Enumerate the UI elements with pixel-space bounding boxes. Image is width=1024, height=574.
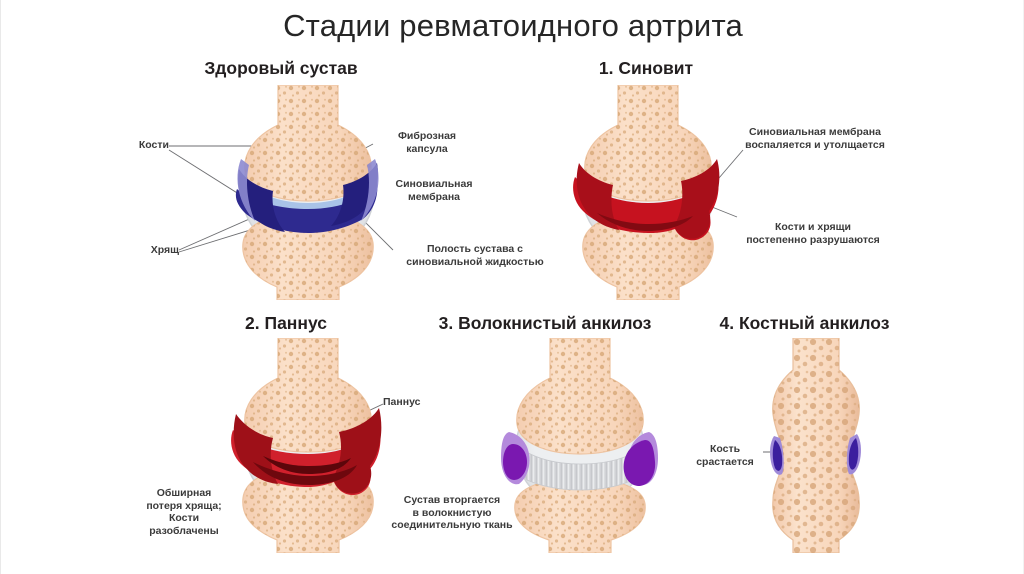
note-fibrous-capsule: Фиброзная капсула — [375, 130, 479, 155]
note-bones: Кости — [109, 139, 169, 152]
shape-upper-bone-trabeculae — [517, 338, 643, 454]
note-fibrous-invasion: Сустав вторгается в волокнистую соединит… — [363, 494, 541, 532]
figure-healthy-joint — [223, 85, 393, 300]
note-bones-destroyed: Кости и хрящи постепенно разрушаются — [715, 221, 911, 246]
slide-canvas: Стадии ревматоидного артрита — [0, 0, 1024, 574]
note-cartilage: Хрящ — [119, 244, 179, 257]
figure-synovitis — [563, 85, 733, 300]
panel-title-bony-ankylosis: 4. Костный анкилоз — [687, 313, 922, 334]
panel-title-synovitis: 1. Синовит — [531, 58, 761, 79]
note-bone-fusion: Кость срастается — [689, 443, 761, 468]
panel-title-pannus: 2. Паннус — [176, 313, 396, 334]
panel-title-healthy-joint: Здоровый сустав — [156, 58, 406, 79]
figure-bony-ankylosis — [761, 338, 871, 553]
note-membrane-inflamed: Синовиальная мембрана воспаляется и утол… — [719, 126, 911, 151]
note-synovial-membrane: Синовиальная мембрана — [379, 178, 489, 203]
panel-title-fibrous-ankylosis: 3. Волокнистый анкилоз — [405, 313, 685, 334]
page-title: Стадии ревматоидного артрита — [1, 8, 1024, 44]
note-cartilage-loss: Обширная потеря хряща; Кости разоблачены — [129, 487, 239, 537]
shape-fused-bone-trabeculae — [773, 338, 860, 553]
